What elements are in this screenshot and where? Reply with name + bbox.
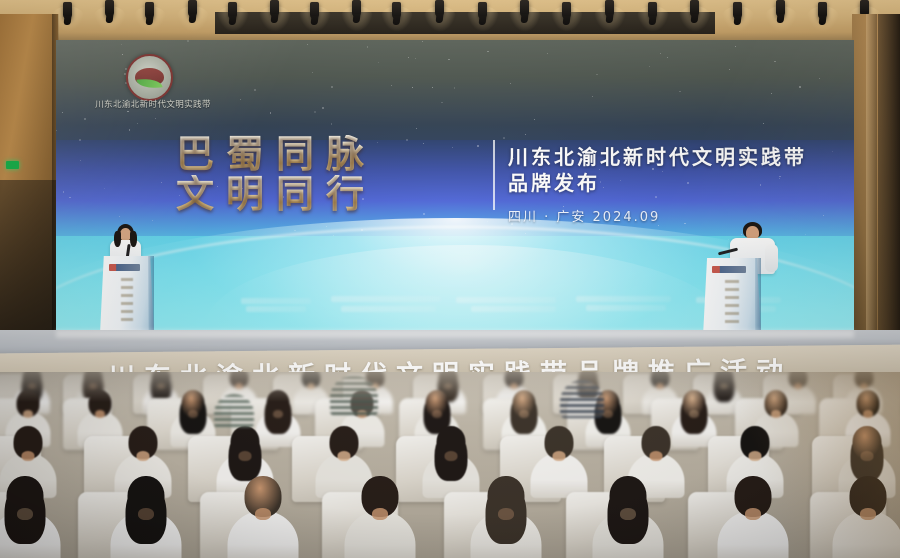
person-neck bbox=[689, 410, 699, 418]
podium-logo bbox=[712, 266, 746, 273]
person-neck bbox=[444, 451, 457, 461]
person-neck bbox=[372, 508, 388, 520]
person-neck bbox=[238, 451, 251, 461]
audience-person bbox=[105, 474, 186, 558]
stage-light-icon bbox=[392, 2, 401, 19]
person-neck bbox=[498, 508, 514, 520]
stage-light-icon bbox=[818, 2, 827, 19]
podium-logo bbox=[109, 264, 140, 271]
audience-person bbox=[222, 474, 303, 558]
stage-light-icon bbox=[188, 0, 197, 17]
person-neck bbox=[603, 410, 613, 418]
person-neck bbox=[519, 410, 529, 418]
podium-vertical-text bbox=[121, 278, 134, 325]
arm-right bbox=[765, 244, 778, 272]
person-neck bbox=[95, 410, 105, 418]
person-neck bbox=[136, 451, 149, 461]
hair-side-left bbox=[114, 231, 121, 247]
person-neck bbox=[23, 410, 33, 418]
stage-light-icon bbox=[478, 2, 487, 19]
podium-edge bbox=[755, 258, 761, 336]
person-neck bbox=[649, 451, 662, 461]
person-neck bbox=[138, 508, 154, 520]
podium-left[interactable] bbox=[100, 256, 154, 334]
stage-light-icon bbox=[310, 2, 319, 19]
stage-light-icon bbox=[520, 0, 529, 17]
person-neck bbox=[552, 451, 565, 461]
person-neck bbox=[432, 410, 442, 418]
stage-light-icon bbox=[228, 2, 237, 19]
podium-edge bbox=[148, 256, 154, 334]
person-neck bbox=[21, 451, 34, 461]
person-neck bbox=[255, 508, 271, 520]
stage-light-icon bbox=[562, 2, 571, 19]
stage-light-icon bbox=[352, 0, 361, 17]
stage-light-icon bbox=[63, 2, 72, 19]
audience-warm-light bbox=[700, 372, 900, 558]
exit-sign-icon bbox=[6, 161, 19, 169]
wall-right-column bbox=[866, 14, 877, 366]
person-neck bbox=[620, 508, 636, 520]
stage-light-icon bbox=[105, 0, 114, 17]
audience-person bbox=[465, 474, 546, 558]
person-neck bbox=[273, 410, 283, 418]
conference-hall-photo: 川东北渝北新时代文明实践带 巴蜀同脉 文明同行 川东北渝北新时代文明实践带 品牌… bbox=[0, 0, 900, 558]
wall-right-shadow bbox=[878, 14, 900, 366]
stage-light-icon bbox=[690, 0, 699, 17]
audience-person bbox=[339, 474, 420, 558]
stage-light-icon bbox=[270, 0, 279, 17]
person-neck bbox=[337, 451, 350, 461]
stage-light-icon bbox=[776, 0, 785, 17]
stage-floor-highlight bbox=[56, 330, 854, 338]
podium-right[interactable] bbox=[703, 258, 761, 336]
person-neck bbox=[17, 508, 33, 520]
stage-light-icon bbox=[435, 0, 444, 17]
stage-light-icon bbox=[145, 2, 154, 19]
audience-person bbox=[587, 474, 668, 558]
podium-vertical-text bbox=[725, 280, 739, 327]
stage-light-icon bbox=[733, 2, 742, 19]
stage-light-icon bbox=[648, 2, 657, 19]
audience-person bbox=[0, 474, 65, 558]
stage-light-icon bbox=[605, 0, 614, 17]
person-neck bbox=[188, 410, 198, 418]
hair-side-right bbox=[130, 231, 137, 247]
